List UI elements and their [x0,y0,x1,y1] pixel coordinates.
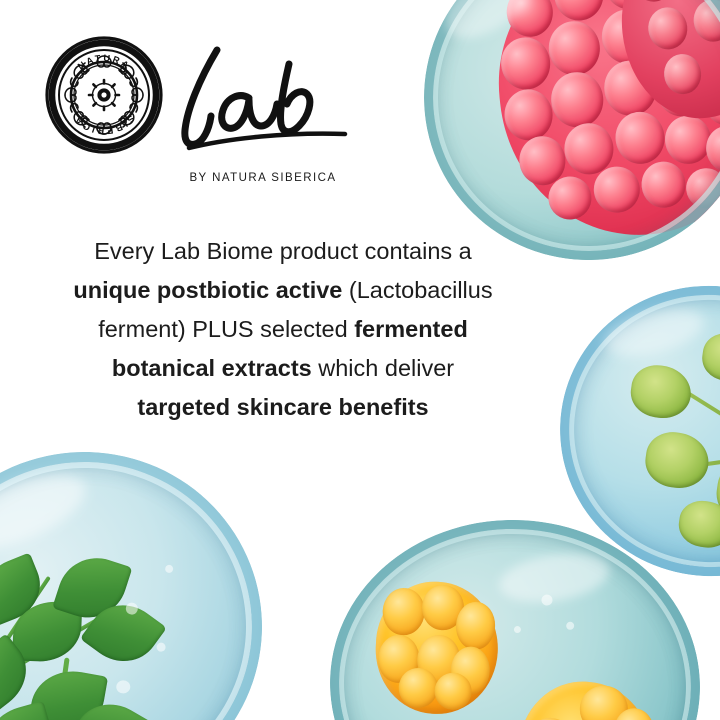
petri-dish-chervil [0,440,274,720]
body-copy-line-1: Every Lab Biome product contains a [0,232,566,271]
plain-text: which deliver [312,355,454,381]
body-copy-line-2: unique postbiotic active (Lactobacillus [0,271,566,310]
plain-text: ferment) PLUS selected [98,316,354,342]
natura-siberica-emblem-icon: NATURA SIBERICA [45,36,163,154]
plain-text: (Lactobacillus [342,277,492,303]
emphasis-text: fermented [354,316,468,342]
plain-text: Every Lab Biome product contains a [94,238,472,264]
lab-wordmark [169,42,355,168]
promo-canvas: NATURA SIBERICA [0,0,720,720]
logo-tagline: BY NATURA SIBERICA [163,172,363,184]
body-copy-line-5: targeted skincare benefits [0,388,566,427]
brand-logo: NATURA SIBERICA [45,36,345,196]
body-copy-line-3: ferment) PLUS selected fermented [0,310,566,349]
sunburst-icon [89,80,119,110]
emphasis-text: targeted skincare benefits [137,394,428,420]
emphasis-text: botanical extracts [112,355,312,381]
emphasis-text: unique postbiotic active [73,277,342,303]
body-copy-line-4: botanical extracts which deliver [0,349,566,388]
body-copy: Every Lab Biome product contains aunique… [0,232,566,427]
